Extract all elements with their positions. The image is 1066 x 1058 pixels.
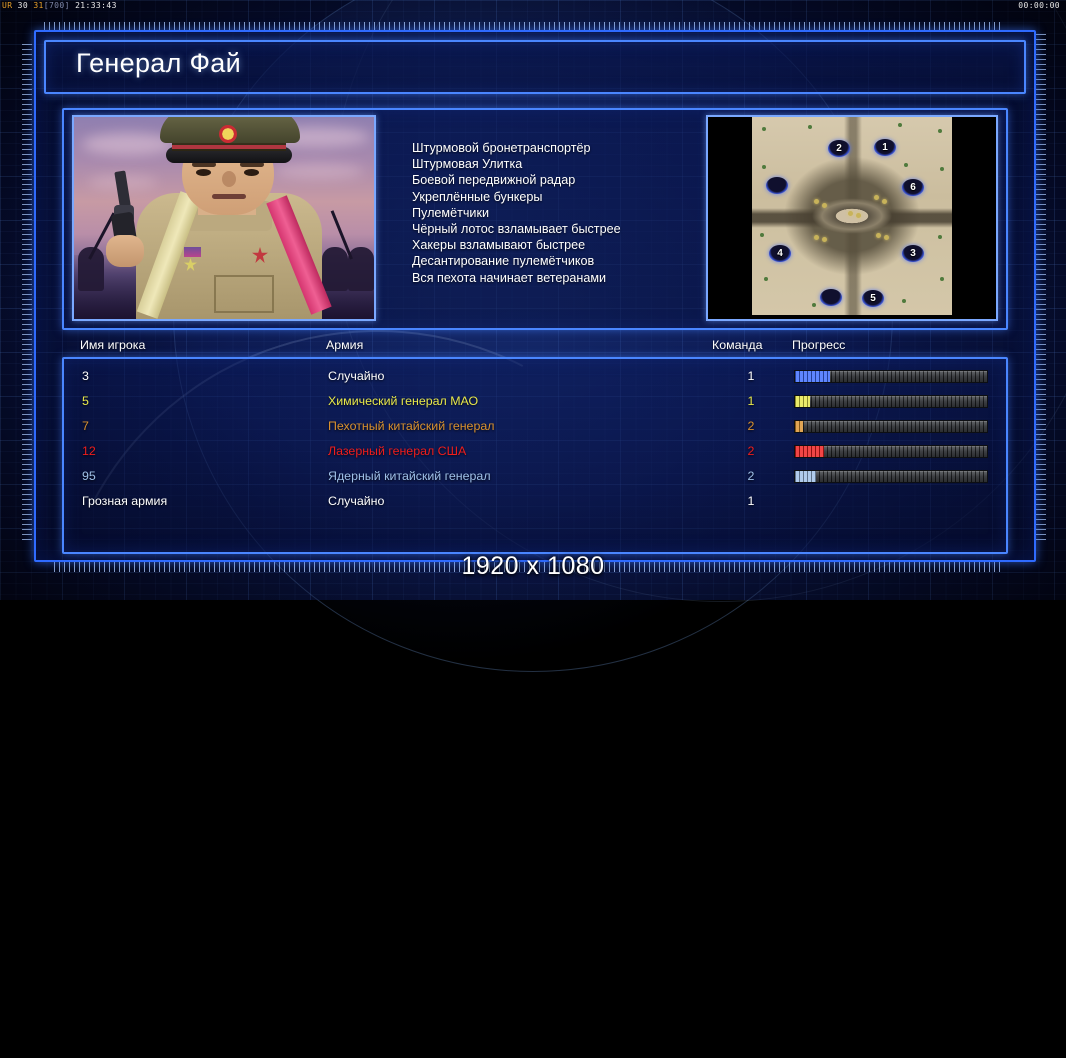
start-position-6: 6	[902, 179, 924, 196]
cell-army: Химический генерал МАО	[328, 394, 478, 408]
cell-army: Пехотный китайский генерал	[328, 419, 494, 433]
map-tree-prop	[898, 123, 902, 127]
progress-bar-fill	[795, 421, 803, 432]
debug-overlay-right: 00:00:00	[1018, 1, 1060, 10]
map-oil-derrick	[814, 199, 819, 204]
table-row[interactable]: 95Ядерный китайский генерал2	[64, 465, 1006, 490]
cell-player-name: 3	[82, 369, 89, 383]
map-terrain	[752, 117, 952, 315]
cell-player-name: 7	[82, 419, 89, 433]
debug-time: 21:33:43	[75, 1, 117, 10]
column-header-team: Команда	[712, 338, 762, 352]
map-tree-prop	[812, 303, 816, 307]
table-row[interactable]: 3Случайно1	[64, 365, 1006, 390]
map-oil-derrick	[856, 213, 861, 218]
map-oil-derrick	[814, 235, 819, 240]
ability-item: Пулемётчики	[412, 205, 712, 221]
map-tree-prop	[938, 129, 942, 133]
progress-bar	[794, 370, 988, 383]
medal-ribbon	[184, 247, 201, 257]
start-position-2: 2	[828, 140, 850, 157]
ruler-left	[22, 44, 32, 544]
debug-overlay-left: UR 30 31[700] 21:33:43	[2, 1, 117, 10]
progress-bar-fill	[795, 396, 810, 407]
progress-bar	[794, 445, 988, 458]
cell-team: 2	[744, 444, 758, 458]
cell-army: Случайно	[328, 494, 384, 508]
map-tree-prop	[808, 125, 812, 129]
cloud	[274, 163, 364, 179]
map-oil-derrick	[848, 211, 853, 216]
map-oil-derrick	[822, 237, 827, 242]
background-soldier	[348, 247, 374, 291]
ability-item: Вся пехота начинает ветеранами	[412, 270, 712, 286]
title-bar: Генерал Фай	[44, 40, 1026, 94]
table-row[interactable]: Грозная армияСлучайно1	[64, 490, 1006, 515]
map-oil-derrick	[822, 203, 827, 208]
ability-item: Укреплённые бункеры	[412, 189, 712, 205]
cell-team: 2	[744, 469, 758, 483]
mouth	[212, 194, 246, 199]
map-oil-derrick	[876, 233, 881, 238]
cap-stripe-red	[172, 145, 286, 149]
map-tree-prop	[764, 277, 768, 281]
cell-player-name: 95	[82, 469, 96, 483]
eye-left	[196, 169, 211, 176]
cell-player-name: 12	[82, 444, 96, 458]
resolution-overlay: 1920 x 1080	[0, 552, 1066, 581]
cell-army: Лазерный генерал США	[328, 444, 466, 458]
start-position-3: 3	[902, 245, 924, 262]
start-position-1: 1	[874, 139, 896, 156]
map-tree-prop	[762, 165, 766, 169]
column-header-progress: Прогресс	[792, 338, 845, 352]
eye-right	[244, 169, 259, 176]
uniform-pocket	[214, 275, 274, 313]
general-hand	[106, 235, 144, 267]
cell-team: 1	[744, 369, 758, 383]
map-tree-prop	[760, 233, 764, 237]
table-row[interactable]: 7Пехотный китайский генерал2	[64, 415, 1006, 440]
column-header-player: Имя игрока	[80, 338, 145, 352]
progress-bar	[794, 420, 988, 433]
general-info-panel: Штурмовой бронетранспортёр Штурмовая Ули…	[62, 108, 1008, 330]
progress-bar	[794, 395, 988, 408]
debug-number-1: 30	[18, 1, 28, 10]
background-soldier	[322, 247, 348, 291]
progress-bar-fill	[795, 371, 830, 382]
general-portrait	[72, 115, 376, 321]
column-header-army: Армия	[326, 338, 363, 352]
ability-item: Чёрный лотос взламывает быстрее	[412, 221, 712, 237]
player-table: 3Случайно15Химический генерал МАО17Пехот…	[62, 357, 1008, 554]
progress-bar	[794, 470, 988, 483]
start-position-unnumbered	[766, 177, 788, 194]
ability-list: Штурмовой бронетранспортёр Штурмовая Ули…	[412, 140, 712, 286]
map-tree-prop	[902, 299, 906, 303]
ability-item: Боевой передвижной радар	[412, 172, 712, 188]
cap-badge-icon	[219, 125, 237, 143]
progress-bar-fill	[795, 471, 816, 482]
start-position-4: 4	[769, 245, 791, 262]
map-preview[interactable]: 216435	[706, 115, 998, 321]
map-oil-derrick	[882, 199, 887, 204]
cell-army: Случайно	[328, 369, 384, 383]
table-row[interactable]: 5Химический генерал МАО1	[64, 390, 1006, 415]
ability-item: Хакеры взламывают быстрее	[412, 237, 712, 253]
debug-bracket: [700]	[44, 1, 70, 10]
cell-player-name: Грозная армия	[82, 494, 167, 508]
cell-team: 1	[744, 394, 758, 408]
map-tree-prop	[938, 235, 942, 239]
map-oil-derrick	[874, 195, 879, 200]
ability-item: Штурмовая Улитка	[412, 156, 712, 172]
map-tree-prop	[940, 167, 944, 171]
ability-item: Штурмовой бронетранспортёр	[412, 140, 712, 156]
start-position-unnumbered	[820, 289, 842, 306]
cell-army: Ядерный китайский генерал	[328, 469, 491, 483]
start-position-5: 5	[862, 290, 884, 307]
map-tree-prop	[940, 277, 944, 281]
ruler-right	[1036, 34, 1046, 544]
cell-player-name: 5	[82, 394, 89, 408]
cell-team: 1	[744, 494, 758, 508]
table-row[interactable]: 12Лазерный генерал США2	[64, 440, 1006, 465]
debug-prefix: UR	[2, 1, 12, 10]
cell-team: 2	[744, 419, 758, 433]
player-table-header: Имя игрока Армия Команда Прогресс	[62, 338, 1004, 356]
map-oil-derrick	[884, 235, 889, 240]
map-tree-prop	[762, 127, 766, 131]
ability-item: Десантирование пулемётчиков	[412, 253, 712, 269]
map-tree-prop	[904, 163, 908, 167]
page-title: Генерал Фай	[76, 48, 241, 79]
progress-bar-fill	[795, 446, 824, 457]
debug-number-2: 31	[33, 1, 43, 10]
nose	[222, 171, 236, 187]
